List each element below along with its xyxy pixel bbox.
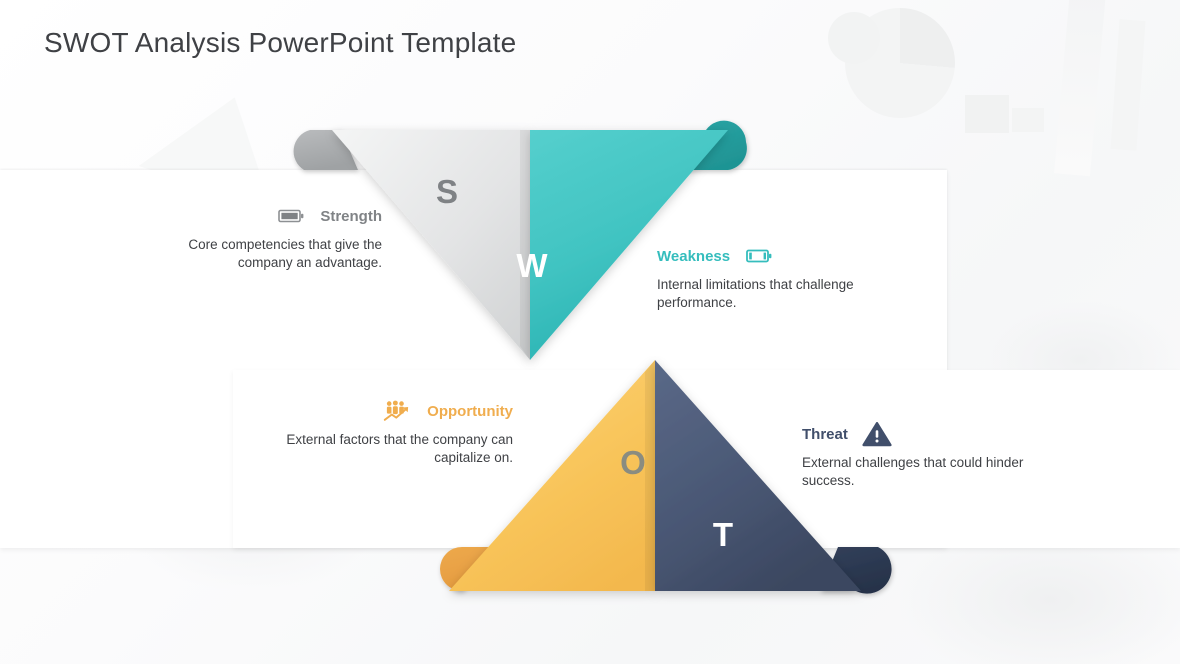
strength-header: Strength [160,205,382,227]
threat-label: Threat [802,426,848,443]
strength-weakness-seam [520,130,530,360]
letter-t: T [713,516,733,553]
opportunity-info-block: Opportunity External factors that the co… [283,400,513,467]
swot-diagram: S W O T [0,0,1180,664]
threat-description: External challenges that could hinder su… [802,454,1042,490]
letter-s: S [436,173,458,210]
weakness-info-block: Weakness Internal limitations that chall… [657,245,892,312]
threat-header: Threat [802,423,1042,445]
strength-info-block: Strength Core competencies that give the… [160,205,382,272]
weakness-header: Weakness [657,245,892,267]
weakness-description: Internal limitations that challenge perf… [657,276,892,312]
letter-o: O [620,444,646,481]
letter-w: W [516,247,548,284]
battery-empty-icon [744,245,774,267]
strength-label: Strength [320,208,382,225]
opportunity-threat-seam [645,360,655,591]
battery-full-icon [276,205,306,227]
threat-info-block: Threat External challenges that could hi… [802,423,1042,490]
strength-description: Core competencies that give the company … [160,236,382,272]
weakness-label: Weakness [657,248,730,265]
people-growth-icon [383,400,413,422]
opportunity-label: Opportunity [427,403,513,420]
opportunity-header: Opportunity [283,400,513,422]
opportunity-description: External factors that the company can ca… [283,431,513,467]
slide-canvas: SWOT Analysis PowerPoint Template [0,0,1180,664]
warning-triangle-icon [862,423,892,445]
